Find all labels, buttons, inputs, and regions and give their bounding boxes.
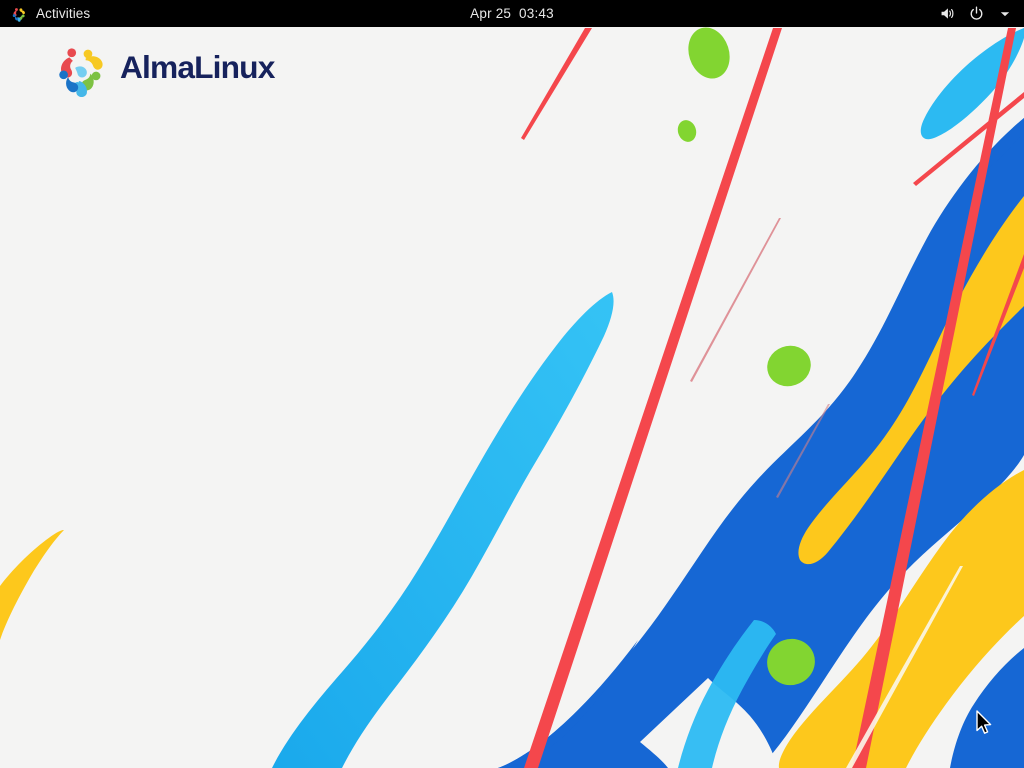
desktop-screen: AlmaLinux [0,0,1024,768]
clock-datetime[interactable]: Apr 25 03:43 [464,6,560,21]
almalinux-wordmark: AlmaLinux [120,48,358,90]
almalinux-pinwheel-logo [52,40,110,98]
activities-button[interactable]: Activities [8,0,96,27]
almalinux-wordmark-text: AlmaLinux [120,49,276,85]
volume-icon[interactable] [938,5,956,23]
power-icon[interactable] [967,5,985,23]
almalinux-desktop-logo: AlmaLinux [52,40,358,98]
almalinux-pinwheel-icon [10,5,28,23]
topbar-center-section: Apr 25 03:43 [0,0,1024,27]
topbar-left-section: Activities [0,0,96,27]
chevron-down-icon[interactable] [996,5,1014,23]
topbar-right-section [938,0,1024,27]
activities-label: Activities [36,6,90,21]
wallpaper-image [0,0,1024,768]
gnome-top-bar: Activities Apr 25 03:43 [0,0,1024,27]
